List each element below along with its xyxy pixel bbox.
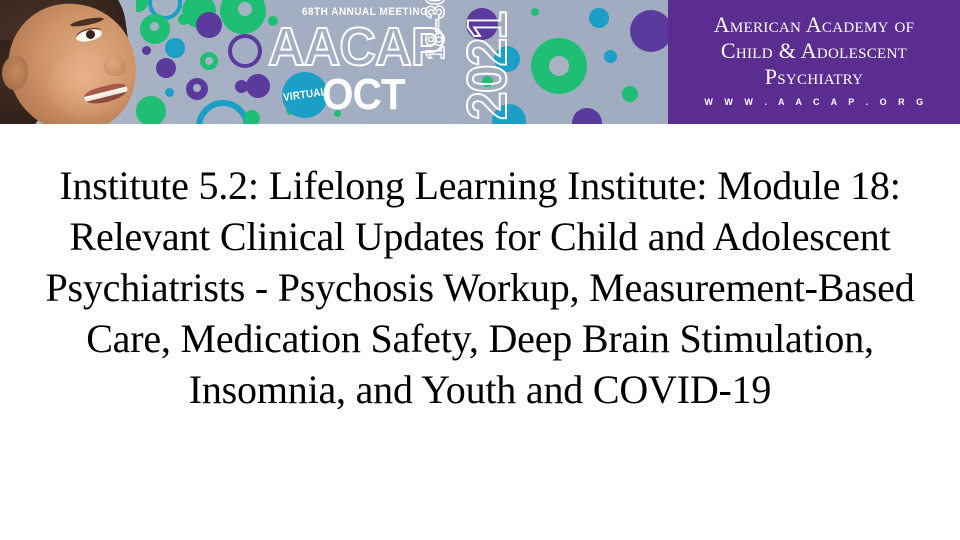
decorative-circle (142, 46, 151, 55)
decorative-circle (178, 14, 189, 25)
aacap-conference-banner: 68TH ANNUAL MEETING AACAP VIRTUAL OCT 18… (0, 0, 960, 124)
decorative-circle (630, 10, 668, 52)
decorative-circle (589, 8, 609, 28)
decorative-circle (572, 108, 602, 124)
child-photo (0, 0, 136, 124)
logo-line-2: Child & Adolescent (668, 40, 960, 62)
photo-ear (2, 56, 28, 90)
decorative-ring (228, 34, 262, 68)
aacap-acronym: AACAP (268, 16, 444, 78)
decorative-circle (136, 96, 166, 124)
aacap-logo-panel: American Academy of Child & Adolescent P… (668, 0, 960, 124)
decorative-circle (205, 57, 213, 65)
decorative-circle (238, 2, 252, 16)
year-label: 2021 (454, 13, 519, 120)
decorative-circle (165, 38, 185, 58)
decorative-circle (165, 88, 174, 97)
photo-nose (104, 56, 126, 76)
decorative-ring (196, 100, 250, 124)
aacap-wordmark: 68TH ANNUAL MEETING AACAP VIRTUAL OCT 18… (268, 2, 568, 124)
decorative-circle (156, 58, 176, 78)
month-label: OCT (322, 70, 405, 120)
decorative-circle (196, 12, 222, 38)
logo-website-url: W W W . A A C A P . O R G (668, 97, 960, 107)
logo-line-3: Psychiatry (668, 66, 960, 88)
decorative-circle (622, 86, 638, 102)
slide-title: Institute 5.2: Lifelong Learning Institu… (30, 160, 930, 415)
banner-pattern-field: 68TH ANNUAL MEETING AACAP VIRTUAL OCT 18… (0, 0, 668, 124)
aacap-logo-text: American Academy of Child & Adolescent P… (668, 14, 960, 107)
presentation-slide: 68TH ANNUAL MEETING AACAP VIRTUAL OCT 18… (0, 0, 960, 540)
dates-label: 18–30 (420, 0, 451, 60)
logo-line-1: American Academy of (668, 14, 960, 36)
decorative-circle (150, 22, 159, 31)
decorative-circle (604, 50, 617, 63)
decorative-circle (193, 84, 201, 92)
decorative-circle (246, 74, 270, 98)
decorative-circle (244, 110, 260, 124)
virtual-badge-label: VIRTUAL (282, 86, 327, 104)
photo-pupil (86, 30, 95, 39)
